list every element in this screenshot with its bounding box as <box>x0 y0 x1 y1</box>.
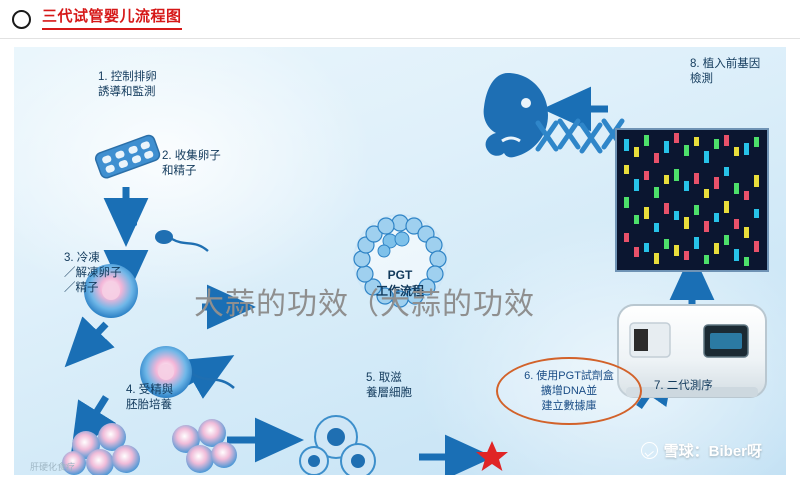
step-label-2: 2. 收集卵子 和精子 <box>162 149 282 179</box>
embryo-cells-icon-2 <box>172 419 237 473</box>
overlay-title-text: 大蒜的功效（大蒜的功效 <box>194 279 535 323</box>
step-label-5: 5. 取滋 養層細胞 <box>366 371 476 401</box>
step-label-1: 1. 控制排卵 誘導和監測 <box>98 70 218 100</box>
trophectoderm-cells-icon <box>300 416 375 475</box>
page-root: 三代试管婴儿流程图 <box>0 0 800 482</box>
chromosome-xxxx-icon <box>538 121 622 151</box>
watermark: 雪球：Biber呀 <box>641 440 762 461</box>
plus-sign <box>117 213 137 233</box>
page-header: 三代试管婴儿流程图 <box>0 0 800 39</box>
step-label-7: 7. 二代測序 <box>654 379 774 394</box>
step-label-8: 8. 植入前基因 檢測 <box>690 57 786 87</box>
step-label-3: 3. 冷凍 ／解凍卵子 ／精子 <box>64 251 174 296</box>
circle-outline-icon <box>12 10 31 29</box>
corner-note: 肝硬化食疗 <box>30 460 75 473</box>
step-label-6: 6. 使用PGT試劑盒 擴增DNA並 建立數據庫 <box>496 357 642 425</box>
flowchart-figure: 1. 控制排卵 誘導和監測 2. 收集卵子 和精子 3. 冷凍 ／解凍卵子 ／精… <box>14 47 786 475</box>
sperm-icon <box>155 230 208 251</box>
step-label-4: 4. 受精與 胚胎培養 <box>126 383 236 413</box>
xueqiu-logo-icon <box>641 442 658 459</box>
pill-blister-pack-icon <box>94 134 161 180</box>
watermark-text: 雪球：Biber呀 <box>664 440 762 461</box>
red-star-icon <box>476 441 508 471</box>
page-title: 三代试管婴儿流程图 <box>42 8 182 30</box>
dna-sequencing-readout-icon <box>616 129 768 271</box>
